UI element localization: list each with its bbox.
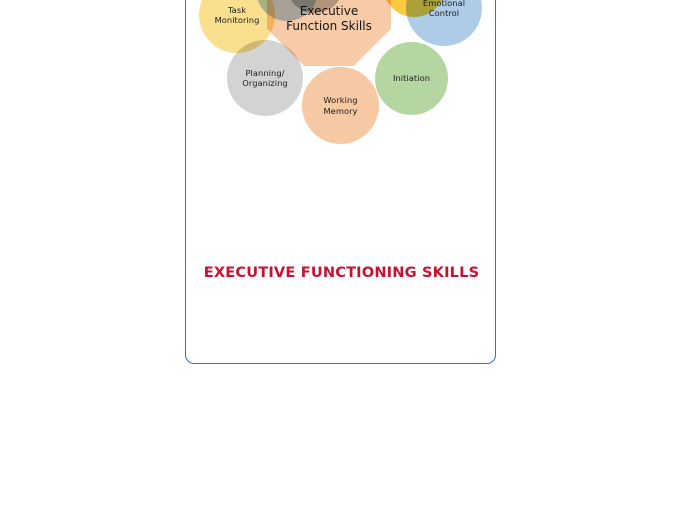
bubble-label-initiation: Initiation [393, 73, 430, 83]
info-card: Task Monitoring Emotional Control Initia… [185, 0, 496, 364]
bubble-label-emotional-control: Emotional Control [423, 0, 465, 18]
executive-function-diagram: Task Monitoring Emotional Control Initia… [186, 0, 496, 191]
bubble-working-memory: Working Memory [302, 67, 379, 144]
core-label: Executive Function Skills [286, 4, 372, 33]
diagram-stage: Task Monitoring Emotional Control Initia… [186, 0, 496, 191]
core-content: Executive Function Skills [286, 0, 372, 34]
bubble-emotional-control: Emotional Control [406, 0, 482, 46]
page-root: Task Monitoring Emotional Control Initia… [0, 0, 696, 520]
card-title: EXECUTIVE FUNCTIONING SKILLS [186, 264, 496, 281]
bubble-label-task-monitoring: Task Monitoring [215, 5, 260, 25]
bubble-label-planning-organizing: Planning/ Organizing [242, 68, 287, 88]
bubble-label-working-memory: Working Memory [323, 95, 357, 115]
bubble-initiation: Initiation [375, 42, 448, 115]
